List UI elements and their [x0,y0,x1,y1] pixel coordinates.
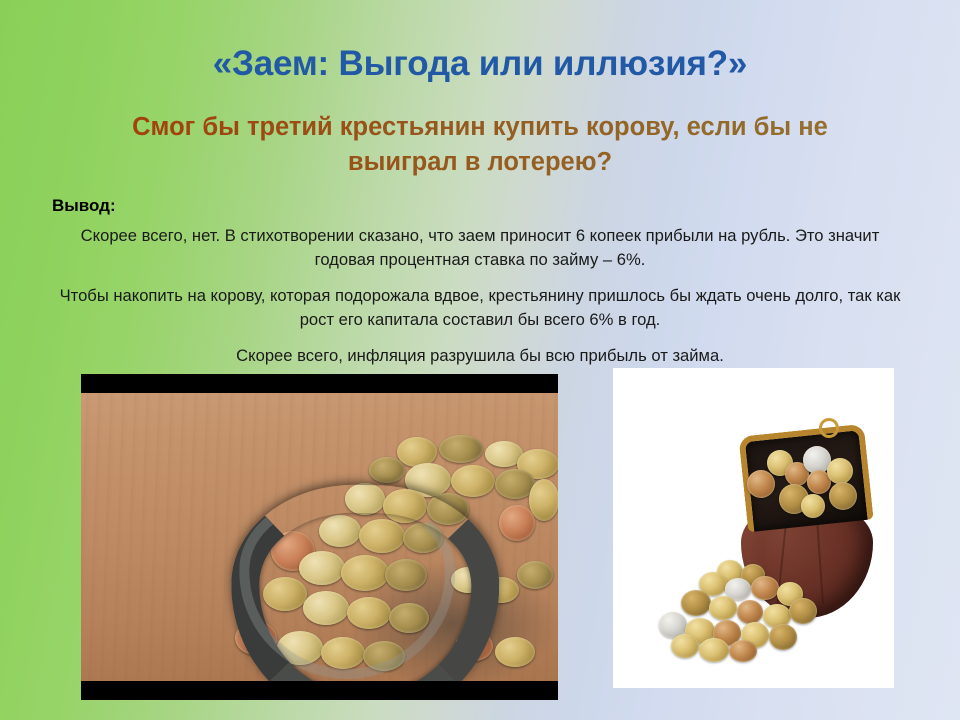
presentation-slide: «Заем: Выгода или иллюзия?» Смог бы трет… [0,0,960,720]
spilled-coins [655,560,831,666]
horseshoe-icon [229,483,501,681]
conclusion-label: Вывод: [52,196,116,216]
body-paragraph-3: Скорее всего, инфляция разрушила бы всю … [52,344,908,368]
body-text-block: Скорее всего, нет. В стихотворении сказа… [52,224,908,368]
horseshoe-scene [81,393,558,681]
coin-purse-photo [613,368,894,688]
body-paragraph-1: Скорее всего, нет. В стихотворении сказа… [52,224,908,273]
slide-subtitle: Смог бы третий крестьянин купить корову,… [75,110,885,179]
horseshoe-on-coins-photo [81,374,558,700]
body-paragraph-2: Чтобы накопить на корову, которая подоро… [52,284,908,333]
coins-inside-purse [745,444,857,522]
page-title: «Заем: Выгода или иллюзия?» [40,44,920,84]
